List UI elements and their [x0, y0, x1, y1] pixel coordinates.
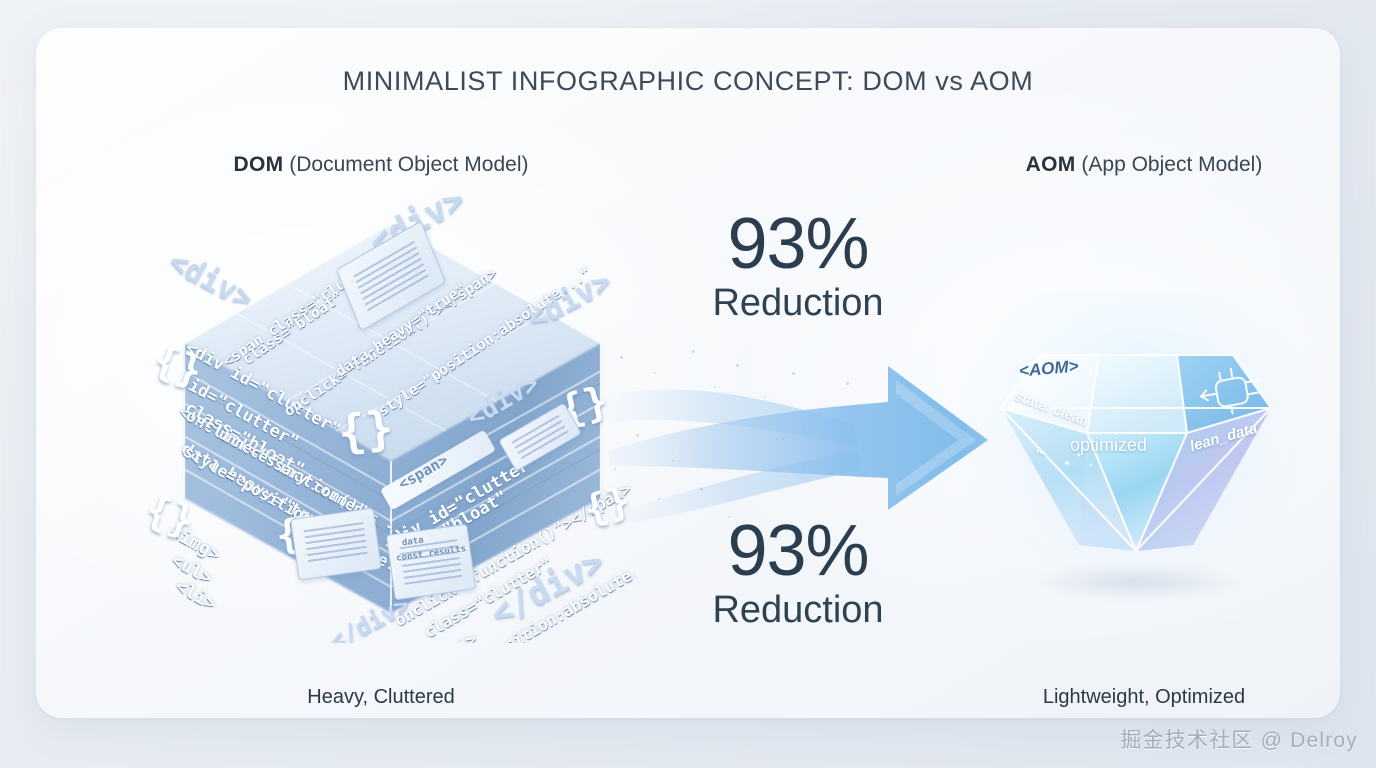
stat-block-top: 93% Reduction: [648, 210, 948, 330]
dom-heading: DOM (Document Object Model): [181, 153, 581, 177]
aom-caption: Lightweight, Optimized: [944, 686, 1340, 709]
arrow-ribbon-upper: [602, 389, 858, 446]
tag-div-left: <div>: [163, 244, 259, 317]
arrow-body: [608, 366, 988, 510]
cube-code-layer: <div id="clutter" id="clutter" class="bl…: [146, 193, 636, 643]
page-title: MINIMALIST INFOGRAPHIC CONCEPT: DOM vs A…: [36, 66, 1340, 97]
code-chiplet: [290, 507, 382, 580]
brace-center: {}: [335, 400, 396, 459]
infographic-card: MINIMALIST INFOGRAPHIC CONCEPT: DOM vs A…: [36, 28, 1340, 718]
dom-code-cube: <div id="clutter" id="clutter" class="bl…: [146, 193, 636, 643]
aom-heading-strong: AOM: [1026, 153, 1076, 176]
dom-caption: Heavy, Cluttered: [181, 686, 581, 709]
dom-heading-strong: DOM: [233, 153, 283, 176]
code-fragment: class="bloat": [239, 288, 346, 369]
aom-diamond: <AOM> state: clean ... optimized lean_da…: [971, 313, 1301, 613]
stat-value: 93%: [648, 210, 948, 278]
stat-block-bottom: 93% Reduction: [648, 517, 948, 637]
watermark: 掘金技术社区 @ Delroy: [1120, 724, 1358, 754]
aom-heading-light: (App Object Model): [1081, 153, 1262, 176]
stat-label: Reduction: [648, 585, 948, 636]
stat-value: 93%: [648, 517, 948, 585]
aom-heading: AOM (App Object Model): [944, 153, 1340, 177]
brace-far: {}: [579, 478, 634, 532]
stat-label: Reduction: [648, 278, 948, 329]
dom-heading-light: (Document Object Model): [289, 153, 528, 176]
